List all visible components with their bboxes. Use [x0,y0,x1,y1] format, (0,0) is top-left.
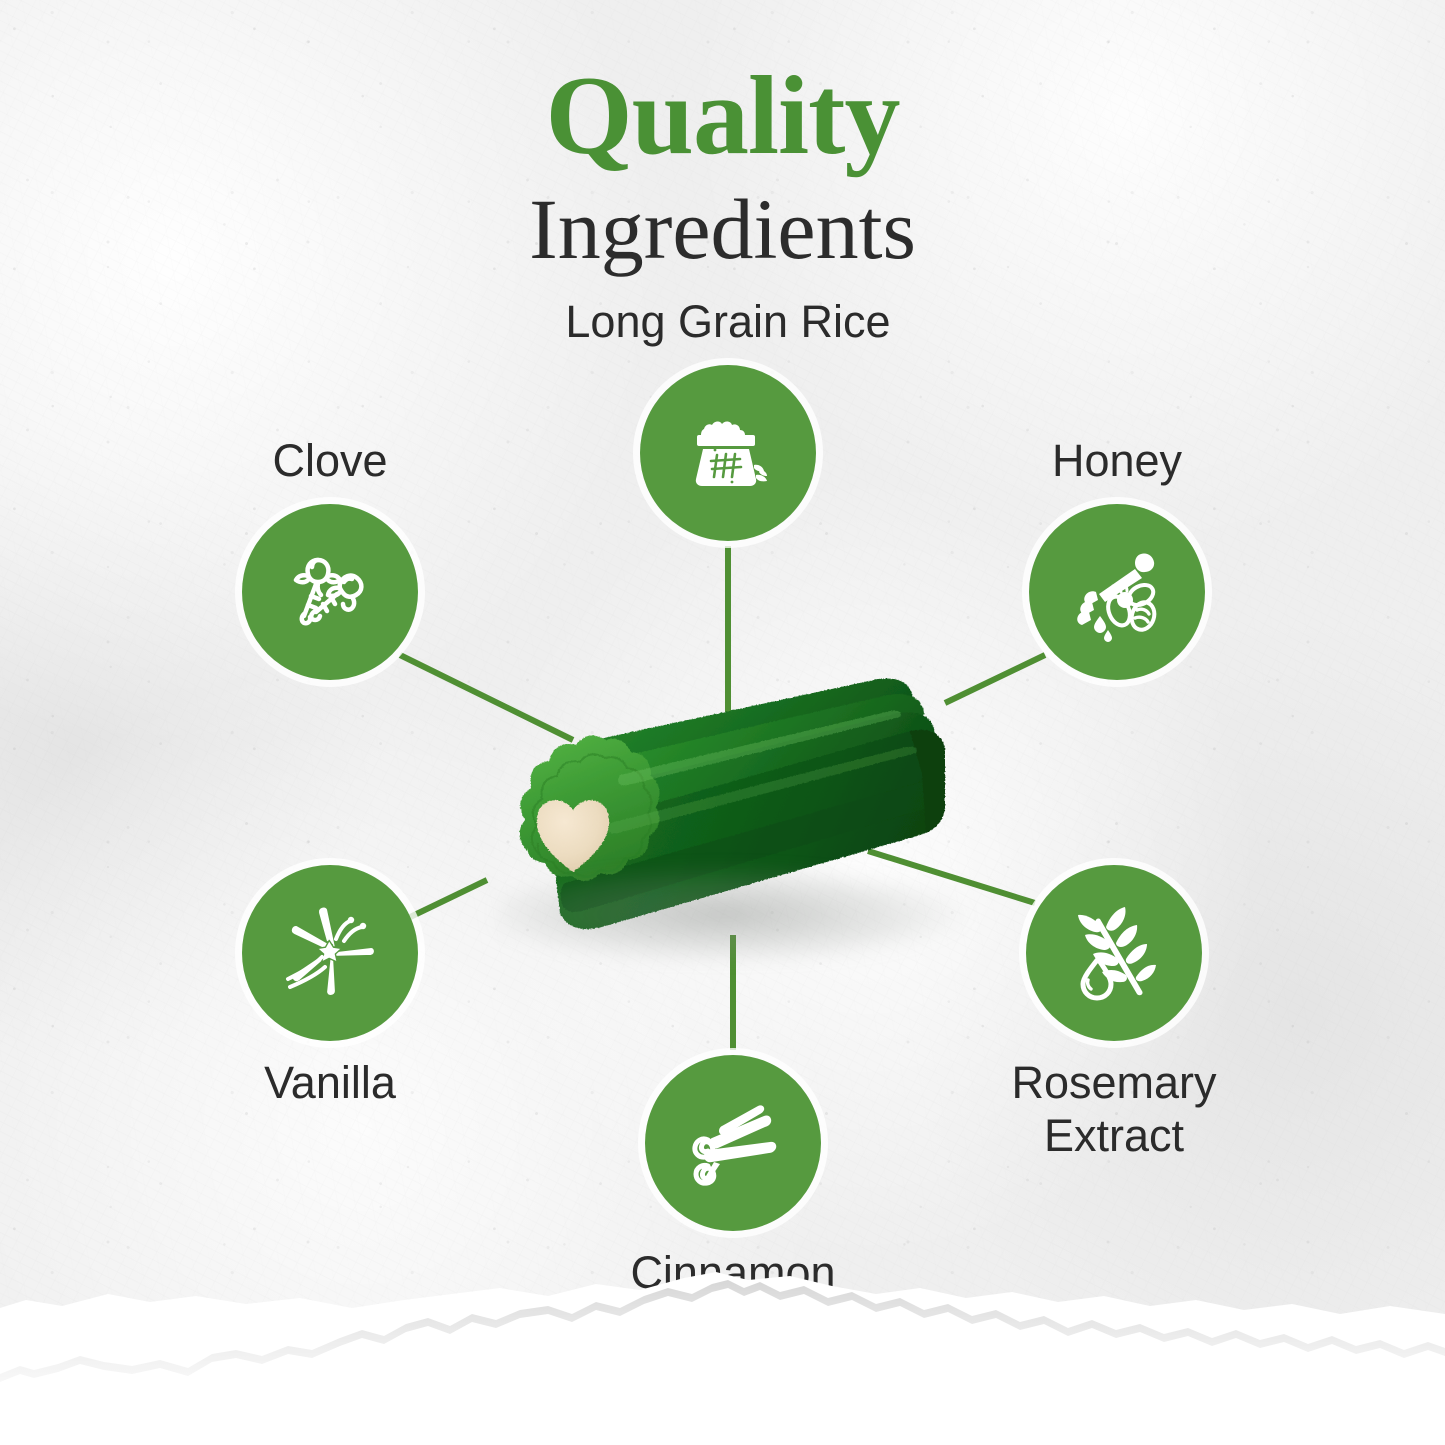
rosemary-sprig-droplet-icon [1058,897,1170,1009]
ingredient-label-long-grain-rice: Long Grain Rice [518,296,938,349]
ingredient-label-honey: Honey [907,435,1327,488]
honey-dipper-bee-icon [1063,538,1171,646]
page-title-ingredients: Ingredients [0,184,1445,274]
clove-buds-icon [278,540,382,644]
ingredient-icon-circle-vanilla[interactable] [242,865,418,1041]
torn-paper-edge [0,1270,1445,1445]
ingredient-label-vanilla: Vanilla [120,1057,540,1110]
ingredient-icon-circle-cinnamon[interactable] [645,1055,821,1231]
page-title-quality: Quality [0,58,1445,176]
ingredient-icon-circle-long-grain-rice[interactable] [640,365,816,541]
ingredient-icon-circle-honey[interactable] [1029,504,1205,680]
ingredient-icon-circle-clove[interactable] [242,504,418,680]
ingredient-label-rosemary-extract: Rosemary Extract [904,1057,1324,1162]
infographic-canvas: Quality Ingredients [0,0,1445,1445]
vanilla-flower-icon [274,897,386,1009]
ingredient-icon-circle-rosemary-extract[interactable] [1026,865,1202,1041]
product-image [470,655,990,985]
product-shadow [498,865,968,960]
rice-sack-icon [676,401,780,505]
ingredient-label-clove: Clove [120,435,540,488]
cinnamon-sticks-icon [678,1088,788,1198]
